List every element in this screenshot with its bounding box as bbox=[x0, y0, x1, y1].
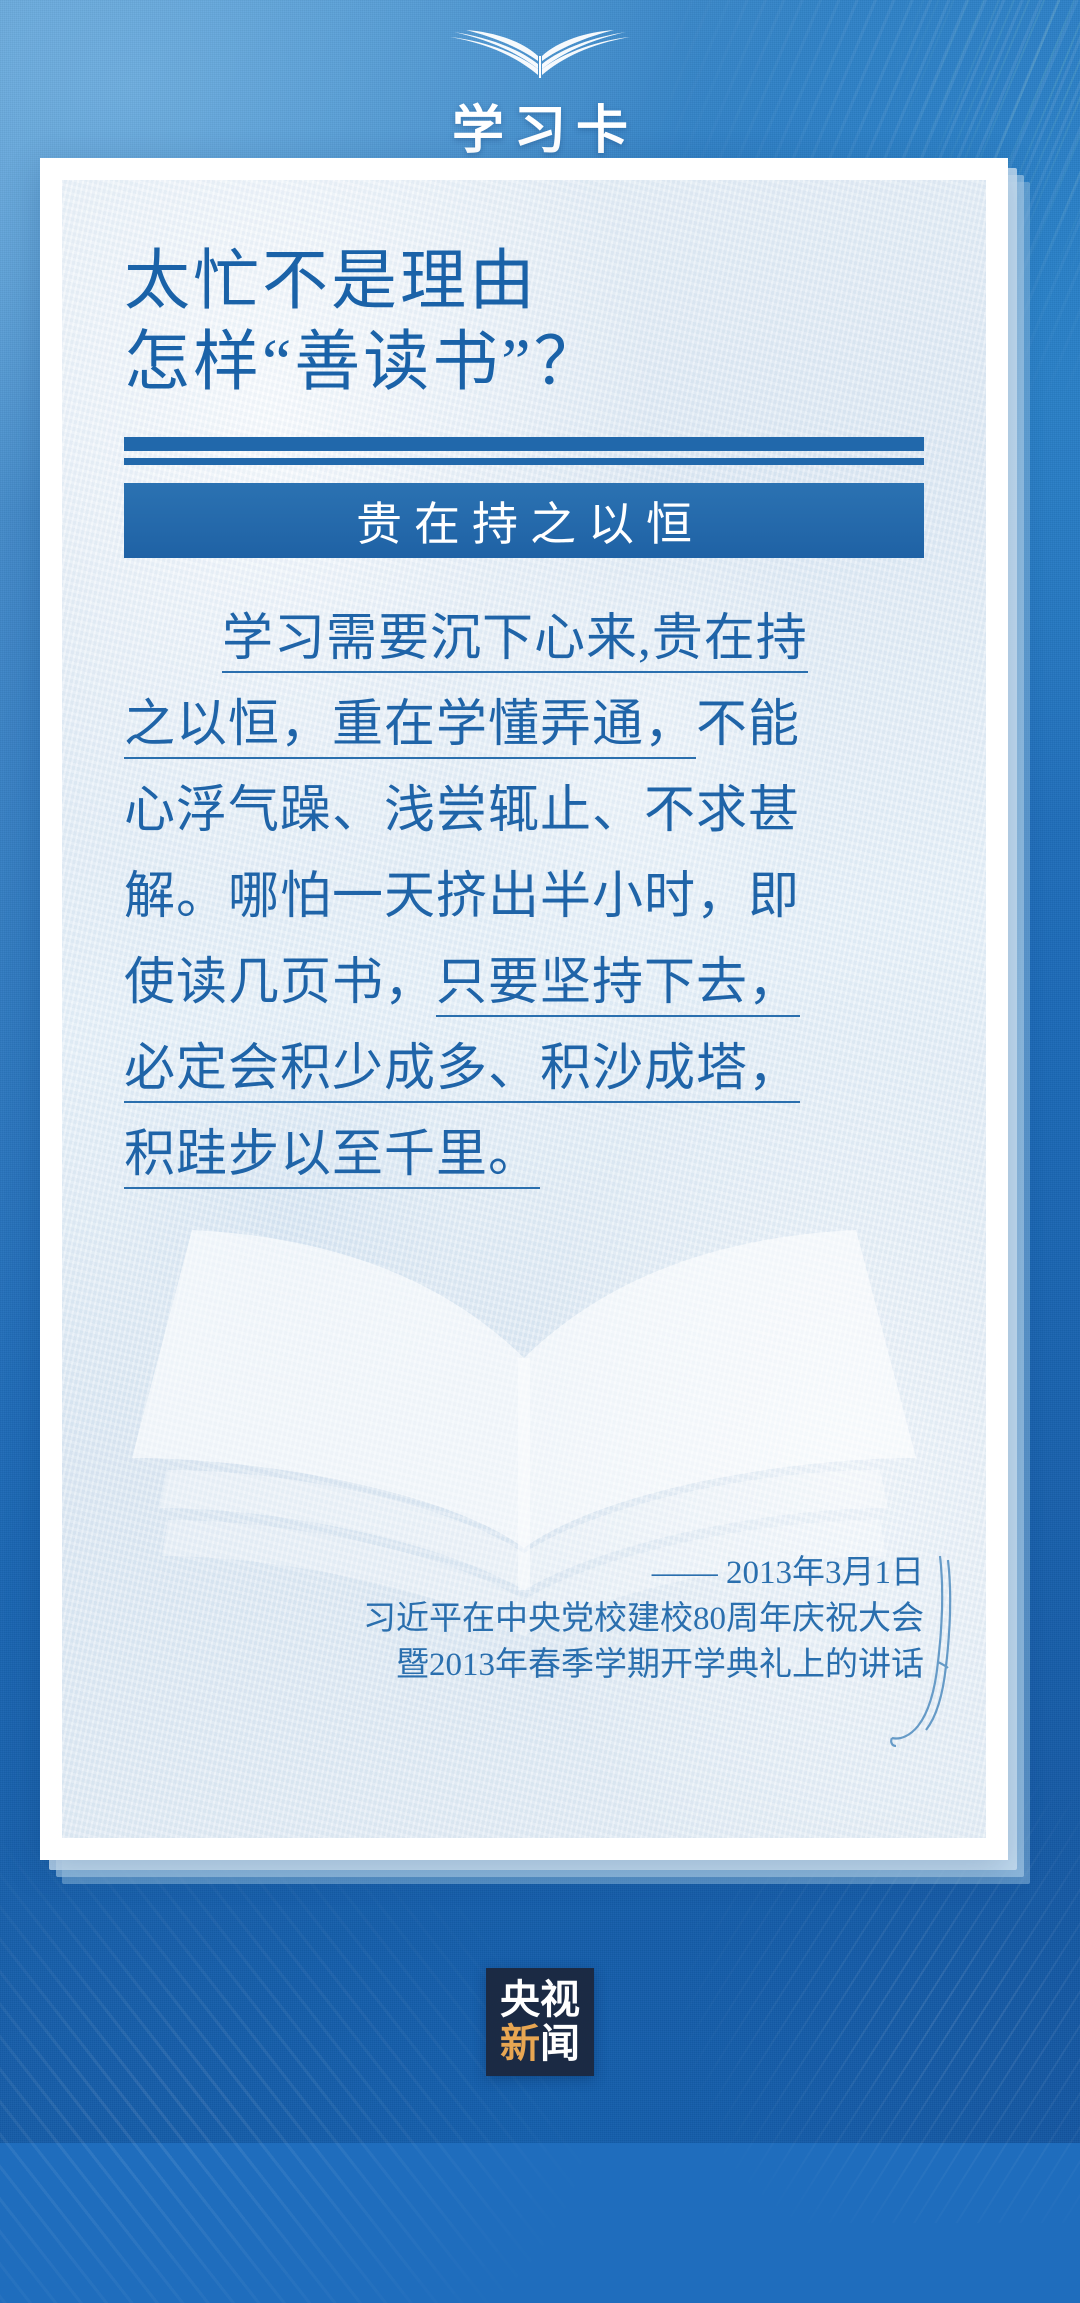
headline-line-2: 怎样“善读书”？ bbox=[124, 323, 924, 404]
banner-text: 贵在持之以恒 bbox=[344, 488, 704, 554]
quote-segment: 心浮气躁、浅尝辄止、不求甚 bbox=[124, 783, 800, 839]
attribution-source-2: 暨2013年春季学期开学典礼上的讲话 bbox=[363, 1642, 924, 1688]
poster-card-stack: 太忙不是理由 怎样“善读书”？ 贵在持之以恒 学习需要沉下心来,贵在持之以恒，重… bbox=[40, 158, 1040, 1898]
quote-segment-underlined: 必定会积少成多、积沙成塔， bbox=[124, 1041, 800, 1103]
banner-rule-thick bbox=[124, 437, 924, 451]
logo-char-yang: 央 bbox=[500, 1980, 540, 2020]
quote-segment-underlined: 学习需要沉下心来,贵在持 bbox=[222, 611, 808, 673]
quote-body: 学习需要沉下心来,贵在持之以恒，重在学懂弄通，不能心浮气躁、浅尝辄止、不求甚解。… bbox=[124, 596, 924, 1198]
quote-line: 必定会积少成多、积沙成塔， bbox=[124, 1026, 924, 1112]
attribution-source-1: 习近平在中央党校建校80周年庆祝大会 bbox=[363, 1596, 924, 1642]
attribution-block: —— 2013年3月1日 习近平在中央党校建校80周年庆祝大会 暨2013年春季… bbox=[363, 1550, 924, 1688]
logo-row-2: 新 闻 bbox=[500, 2024, 580, 2064]
brand-title: 学习卡 bbox=[442, 88, 638, 163]
banner-rule-gap bbox=[124, 451, 924, 458]
poster-header: 学习卡 bbox=[0, 0, 1080, 172]
open-book-icon bbox=[440, 28, 640, 82]
calligraphy-brush-icon bbox=[882, 1550, 966, 1750]
logo-char-shi: 视 bbox=[540, 1980, 580, 2020]
logo-char-wen: 闻 bbox=[540, 2024, 580, 2064]
quote-line: 学习需要沉下心来,贵在持 bbox=[124, 596, 924, 682]
quote-line: 积跬步以至千里。 bbox=[124, 1112, 924, 1198]
quote-segment-underlined: 之以恒，重在学懂弄通， bbox=[124, 697, 696, 759]
quote-segment-underlined: 积跬步以至千里。 bbox=[124, 1127, 540, 1189]
cctv-news-logo[interactable]: 央 视 新 闻 bbox=[486, 1968, 594, 2076]
headline-block: 太忙不是理由 怎样“善读书”？ bbox=[124, 242, 924, 403]
banner-bar: 贵在持之以恒 bbox=[124, 483, 924, 558]
poster-card: 太忙不是理由 怎样“善读书”？ 贵在持之以恒 学习需要沉下心来,贵在持之以恒，重… bbox=[40, 158, 1008, 1860]
quote-line: 之以恒，重在学懂弄通，不能 bbox=[124, 682, 924, 768]
banner-rule-thin bbox=[124, 458, 924, 465]
logo-char-xin: 新 bbox=[500, 2024, 540, 2064]
quote-line: 心浮气躁、浅尝辄止、不求甚 bbox=[124, 768, 924, 854]
quote-segment: 解。哪怕一天挤出半小时，即 bbox=[124, 869, 800, 925]
quote-segment: 使读几页书， bbox=[124, 955, 436, 1011]
quote-segment-underlined: 只要坚持下去， bbox=[436, 955, 800, 1017]
logo-row-1: 央 视 bbox=[500, 1980, 580, 2020]
headline-line-1: 太忙不是理由 bbox=[124, 242, 924, 323]
banner-block: 贵在持之以恒 bbox=[124, 437, 924, 558]
quote-line: 解。哪怕一天挤出半小时，即 bbox=[124, 854, 924, 940]
card-paper-surface: 太忙不是理由 怎样“善读书”？ 贵在持之以恒 学习需要沉下心来,贵在持之以恒，重… bbox=[62, 180, 986, 1838]
attribution-date: —— 2013年3月1日 bbox=[363, 1550, 924, 1596]
quote-line: 使读几页书，只要坚持下去， bbox=[124, 940, 924, 1026]
quote-segment: 不能 bbox=[696, 697, 800, 753]
